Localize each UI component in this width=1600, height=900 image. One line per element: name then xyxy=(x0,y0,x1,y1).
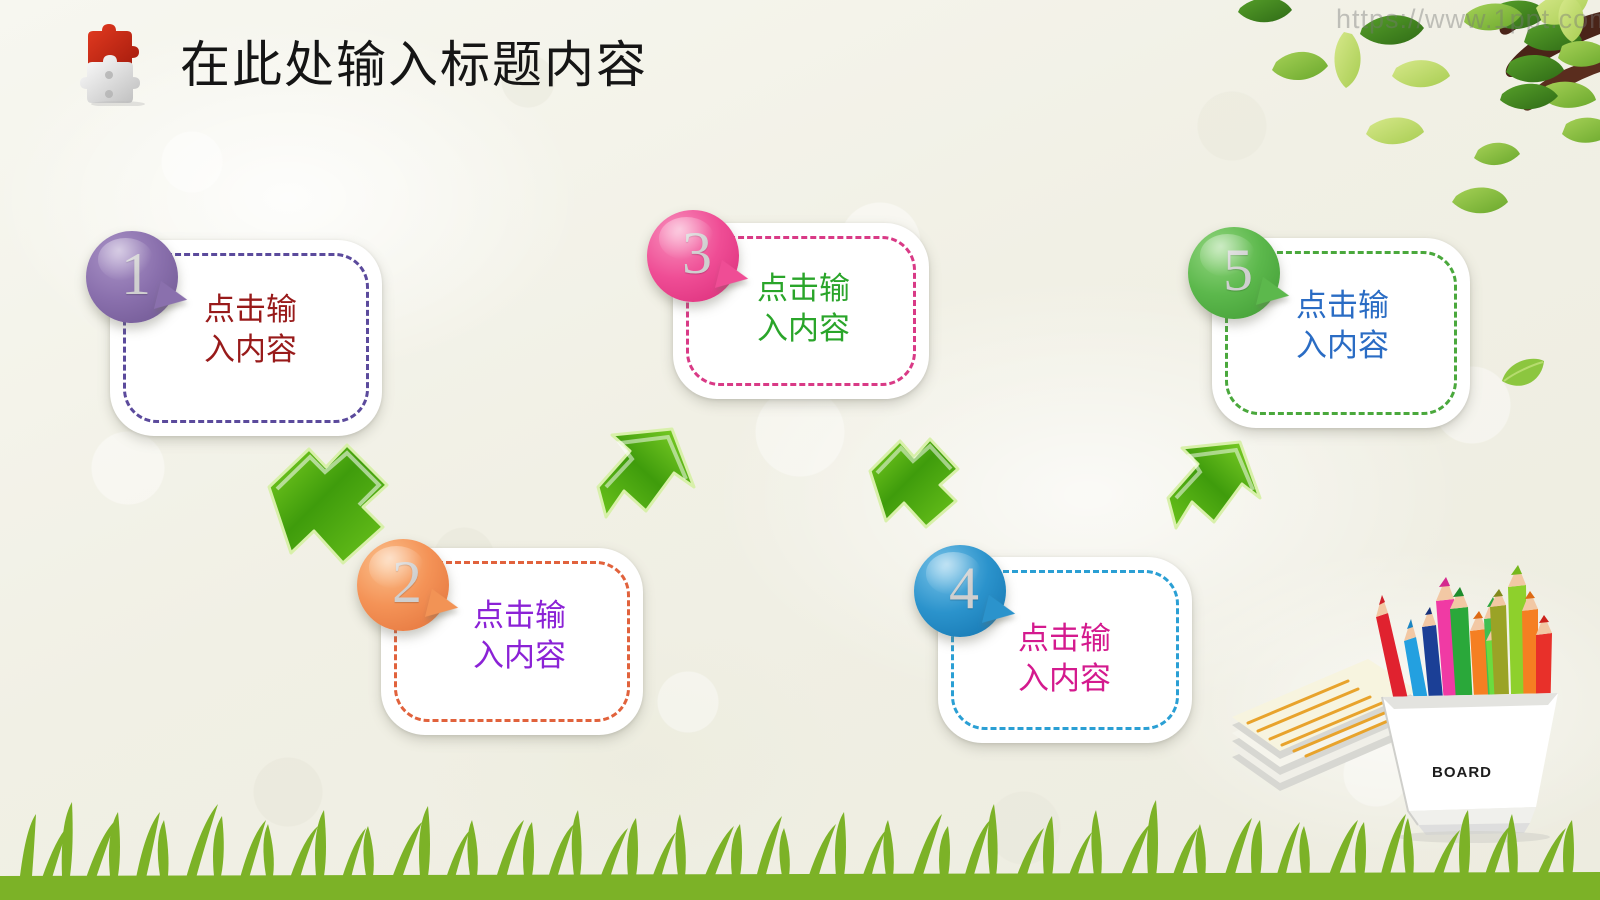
step-number-3: 3 xyxy=(682,223,712,283)
step-bubble-4[interactable]: 4 xyxy=(914,545,1006,637)
arrow-step2-to-step3 xyxy=(592,425,698,533)
step-bubble-1[interactable]: 1 xyxy=(86,231,178,323)
puzzle-piece-icon xyxy=(78,24,156,106)
step-text-4: 点击输 入内容 xyxy=(1018,619,1111,698)
watermark-text: https://www.1ppt.com xyxy=(1336,4,1600,35)
step-bubble-5[interactable]: 5 xyxy=(1188,227,1280,319)
arrow-step4-to-step5 xyxy=(1162,438,1262,542)
floating-leaf-icon xyxy=(1498,355,1548,395)
step-text-1: 点击输 入内容 xyxy=(204,290,297,369)
step-number-4: 4 xyxy=(949,558,979,618)
step-bubble-2[interactable]: 2 xyxy=(357,539,449,631)
step-text-3: 点击输 入内容 xyxy=(757,269,850,348)
step-text-5: 点击输 入内容 xyxy=(1296,286,1389,365)
step-number-1: 1 xyxy=(121,244,151,304)
pencil-cup-label: BOARD xyxy=(1432,764,1492,781)
grass-decoration xyxy=(0,780,1600,900)
slide-canvas: https://www.1ppt.com 在此处输入标题内容 xyxy=(0,0,1600,900)
step-bubble-3[interactable]: 3 xyxy=(647,210,739,302)
step-number-2: 2 xyxy=(392,552,422,612)
step-text-2: 点击输 入内容 xyxy=(473,596,566,675)
slide-header: 在此处输入标题内容 xyxy=(78,24,648,106)
step-number-5: 5 xyxy=(1223,240,1253,300)
page-title: 在此处输入标题内容 xyxy=(180,40,648,90)
arrow-step3-to-step4 xyxy=(866,436,962,532)
